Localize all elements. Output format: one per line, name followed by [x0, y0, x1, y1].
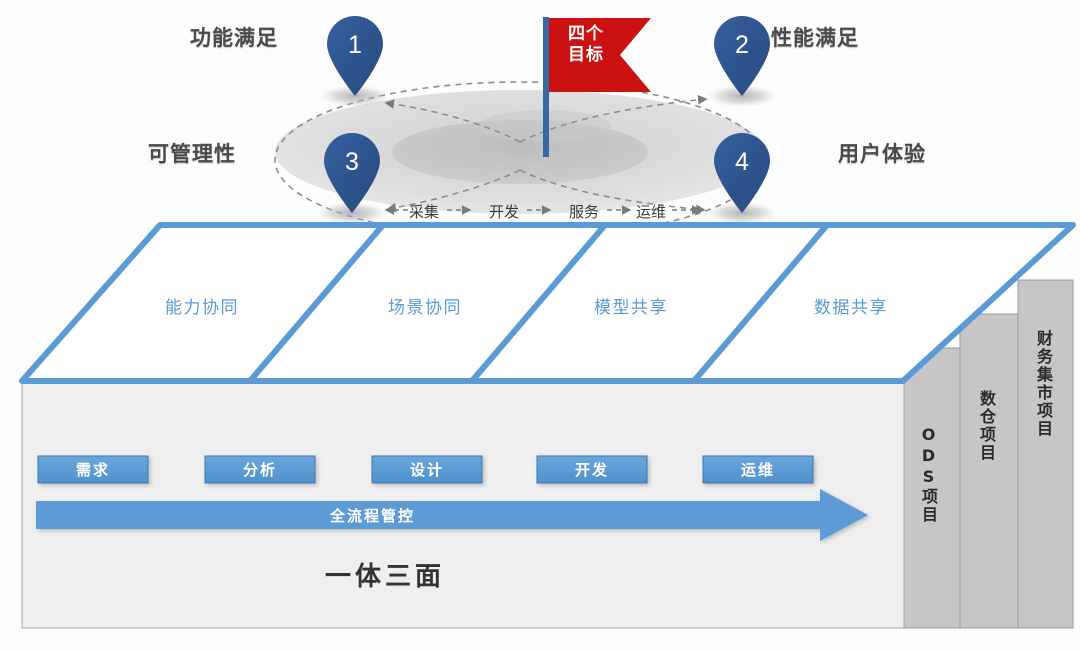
goal-label-1: 功能满足 — [190, 22, 278, 52]
lifecycle-word-1: 采集 — [409, 201, 439, 222]
base-title: 一体三面 — [325, 556, 445, 593]
process-arrow-label: 全流程管控 — [330, 505, 415, 526]
process-button-sheji[interactable]: 设计 — [372, 456, 482, 483]
goal-label-3: 可管理性 — [148, 138, 236, 168]
process-button-kaifa[interactable]: 开发 — [537, 456, 647, 483]
pin-number-2: 2 — [720, 31, 764, 60]
top-face-label-1: 能力协同 — [165, 293, 239, 318]
side-panel-label-ods: ODS项目 — [916, 425, 940, 524]
flag-label: 四个 目标 — [560, 24, 612, 66]
process-button-fenxi[interactable]: 分析 — [205, 456, 315, 483]
flag-label-line1: 四个 — [560, 24, 612, 45]
side-panel-label-warehouse: 数仓项目 — [974, 390, 998, 462]
side-panel-label-finance: 财务集市项目 — [1031, 330, 1055, 438]
lifecycle-word-3: 服务 — [569, 201, 599, 222]
pin-number-1: 1 — [333, 31, 377, 60]
flag-label-line2: 目标 — [560, 45, 612, 66]
top-face-label-4: 数据共享 — [814, 293, 888, 318]
process-button-xuqiu[interactable]: 需求 — [38, 456, 148, 483]
top-face-label-3: 模型共享 — [594, 293, 668, 318]
diagram-vector-layer — [0, 0, 1080, 651]
pin-number-3: 3 — [330, 148, 374, 177]
lifecycle-word-2: 开发 — [489, 201, 519, 222]
goal-label-4: 用户体验 — [838, 138, 926, 168]
process-button-yunwei[interactable]: 运维 — [703, 456, 813, 483]
goal-label-2: 性能满足 — [771, 22, 859, 52]
lifecycle-word-4: 运维 — [636, 201, 666, 222]
top-face-label-2: 场景协同 — [388, 293, 462, 318]
diagram-canvas: 功能满足 性能满足 可管理性 用户体验 1 2 3 4 四个 目标 采集 开发 … — [0, 0, 1080, 651]
pin-number-4: 4 — [720, 148, 764, 177]
